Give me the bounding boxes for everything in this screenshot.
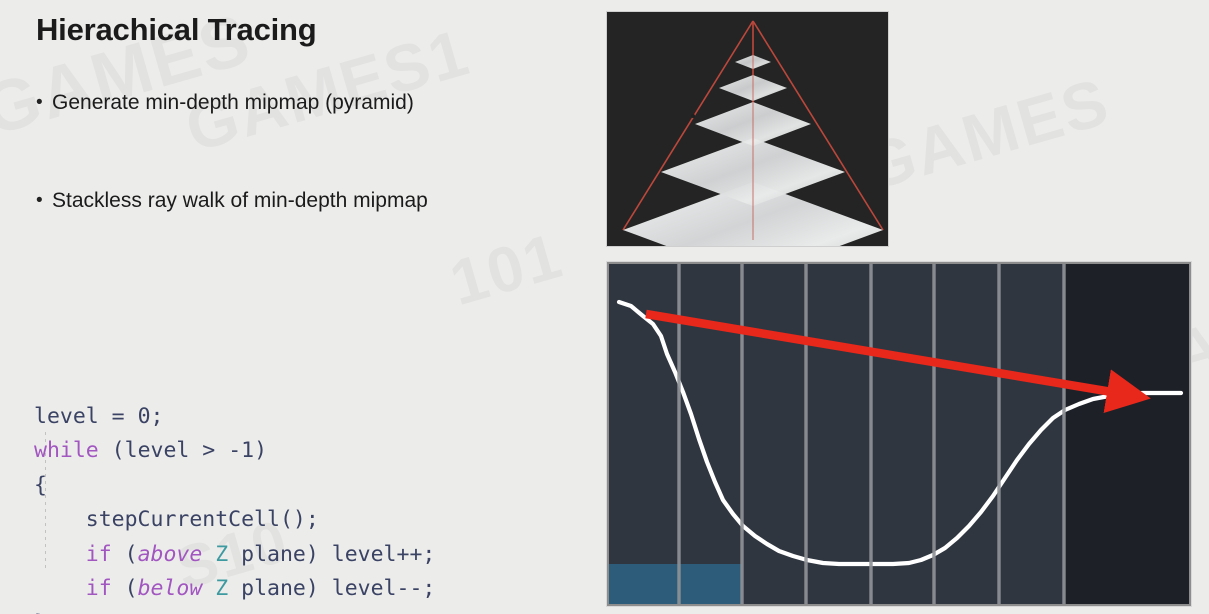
bullet-marker-icon: • <box>36 188 52 214</box>
code-token: ++; <box>397 542 436 567</box>
code-token: { <box>34 473 47 498</box>
code-token: ( <box>112 576 138 601</box>
code-token: Z <box>215 542 228 567</box>
bullet-marker-icon: • <box>36 90 52 116</box>
code-token <box>202 576 215 601</box>
code-token: ; <box>151 404 164 429</box>
code-token: 0 <box>138 404 151 429</box>
watermark-text: GAMES <box>854 63 1117 206</box>
code-token: level <box>125 438 190 463</box>
mipmap-pyramid-image <box>606 11 889 247</box>
code-line: if (below Z plane) level--; <box>34 572 435 607</box>
code-token: ( <box>112 542 138 567</box>
code-token: --; <box>397 576 436 601</box>
code-token: ) <box>306 542 332 567</box>
code-block: level = 0;while (level > -1){ stepCurren… <box>34 296 435 614</box>
pyramid-svg <box>607 12 888 246</box>
code-token: plane <box>228 542 306 567</box>
code-token: level <box>332 576 397 601</box>
code-token: plane <box>228 576 306 601</box>
bullet-item: • Generate min-depth mipmap (pyramid) <box>36 90 414 116</box>
code-token: above <box>138 542 203 567</box>
code-token: (); <box>280 507 319 532</box>
bullet-label: Generate min-depth mipmap (pyramid) <box>52 90 414 116</box>
bullet-item: • Stackless ray walk of min-depth mipmap <box>36 188 428 214</box>
watermark-text: 101 <box>442 218 571 320</box>
code-token: if <box>86 576 112 601</box>
page-title: Hierachical Tracing <box>36 12 317 48</box>
code-token: level <box>34 404 99 429</box>
chart-background-dark <box>1064 264 1189 604</box>
code-line: if (above Z plane) level++; <box>34 538 435 573</box>
code-token: level <box>332 542 397 567</box>
code-token: below <box>138 576 203 601</box>
code-line: stepCurrentCell(); <box>34 503 435 538</box>
code-token: while <box>34 438 99 463</box>
code-token: stepCurrentCell <box>34 507 280 532</box>
code-token: Z <box>215 576 228 601</box>
min-depth-block <box>609 564 742 604</box>
code-line: } <box>34 607 435 614</box>
code-token <box>34 542 86 567</box>
code-token: ) <box>306 576 332 601</box>
code-line: level = 0; <box>34 400 435 435</box>
slide-root: GAMES GAMES1 101 GAMES S10 GAMES Hierach… <box>0 0 1209 614</box>
code-token: ) <box>254 438 267 463</box>
code-line: while (level > -1) <box>34 434 435 469</box>
pyramid-marker-dot <box>691 114 695 118</box>
code-token <box>34 576 86 601</box>
depth-chart-svg <box>609 264 1189 604</box>
code-token: = <box>99 404 138 429</box>
code-token: -1 <box>228 438 254 463</box>
code-line: { <box>34 469 435 504</box>
code-token: ( <box>99 438 125 463</box>
code-token: if <box>86 542 112 567</box>
code-token: } <box>34 611 47 614</box>
code-token <box>202 542 215 567</box>
min-depth-mipmap-diagram <box>607 262 1191 606</box>
code-token: > <box>189 438 228 463</box>
bullet-label: Stackless ray walk of min-depth mipmap <box>52 188 428 214</box>
